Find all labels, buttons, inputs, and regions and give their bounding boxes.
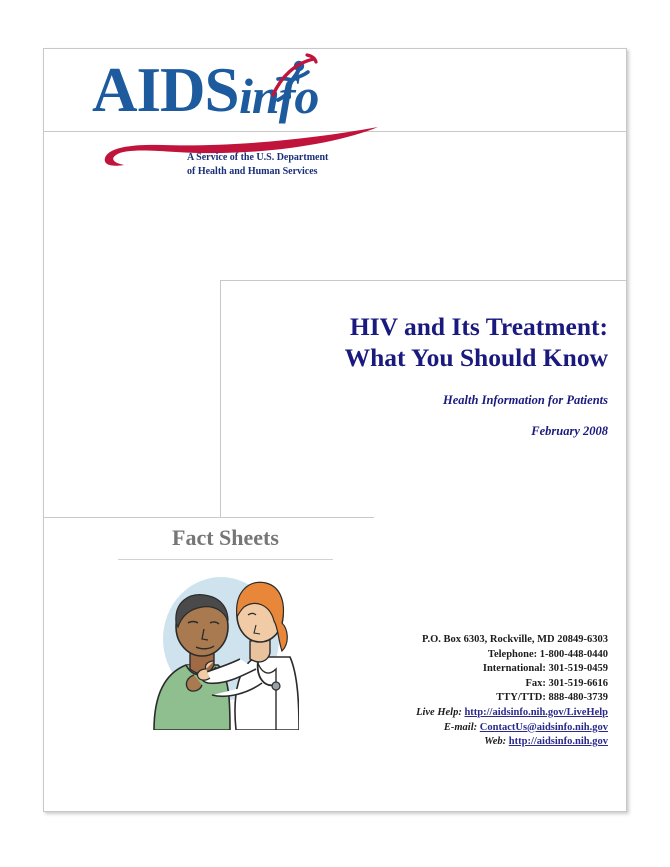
logo-wordmark: AIDS info [92,59,392,131]
contact-international: International: 301-519-0459 [294,662,608,677]
page-title: HIV and Its Treatment: What You Should K… [240,311,608,373]
email-link[interactable]: ContactUs@aidsinfo.nih.gov [480,722,608,733]
contact-address: P.O. Box 6303, Rockville, MD 20849-6303 [294,633,608,648]
contact-email-row: E-mail: ContactUs@aidsinfo.nih.gov [294,721,608,736]
web-label: Web [484,736,502,747]
contact-tty: TTY/TTD: 888-480-3739 [294,691,608,706]
email-label: E-mail [444,722,474,733]
contact-live-help-row: Live Help: http://aidsinfo.nih.gov/LiveH… [294,706,608,721]
page-subtitle: Health Information for Patients [240,393,608,408]
title-frame-left-rule [220,280,221,518]
title-frame-bottom-rule [44,517,374,518]
logo-text-aids: AIDS [92,59,239,122]
contact-fax: Fax: 301-519-6616 [294,677,608,692]
contact-telephone: Telephone: 1-800-448-0440 [294,648,608,663]
document-page: AIDS info A Service of the U.S. Departme… [43,48,627,812]
title-frame-top-rule [220,280,627,281]
aidsinfo-logo: AIDS info A Service of the U.S. Departme… [92,55,392,190]
doctor-examining-patient-illustration [144,565,299,730]
logo-tagline: A Service of the U.S. Department of Heal… [187,151,328,178]
publication-date: February 2008 [240,424,608,439]
fact-sheets-heading: Fact Sheets [118,525,333,551]
contact-web-row: Web: http://aidsinfo.nih.gov [294,735,608,750]
title-block: HIV and Its Treatment: What You Should K… [240,311,608,439]
live-help-label: Live Help [416,707,458,718]
live-help-link[interactable]: http://aidsinfo.nih.gov/LiveHelp [464,707,608,718]
fact-sheets-underline-rule [118,559,333,560]
contact-information: P.O. Box 6303, Rockville, MD 20849-6303 … [294,633,608,750]
web-link[interactable]: http://aidsinfo.nih.gov [509,736,608,747]
running-figure-icon [257,53,327,103]
